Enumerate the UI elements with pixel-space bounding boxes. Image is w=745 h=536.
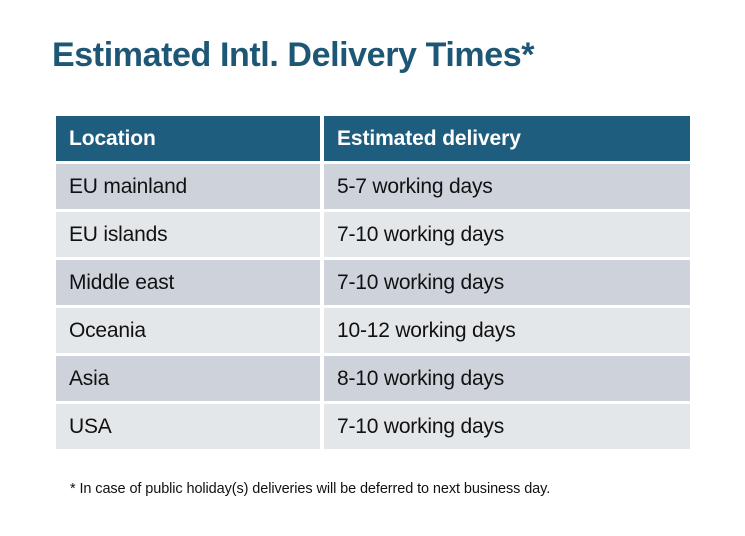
- cell-estimated-delivery: 7-10 working days: [324, 212, 690, 257]
- cell-estimated-delivery: 8-10 working days: [324, 356, 690, 401]
- cell-location: USA: [56, 404, 320, 449]
- table-body: EU mainland 5-7 working days EU islands …: [56, 164, 690, 449]
- cell-estimated-delivery: 7-10 working days: [324, 260, 690, 305]
- table-header: Location Estimated delivery: [56, 116, 690, 161]
- cell-location: EU islands: [56, 212, 320, 257]
- column-header-location: Location: [56, 116, 320, 161]
- table-row: EU islands 7-10 working days: [56, 212, 690, 257]
- cell-estimated-delivery: 7-10 working days: [324, 404, 690, 449]
- cell-location: Asia: [56, 356, 320, 401]
- column-header-estimated-delivery: Estimated delivery: [324, 116, 690, 161]
- cell-estimated-delivery: 10-12 working days: [324, 308, 690, 353]
- cell-location: Oceania: [56, 308, 320, 353]
- cell-location: Middle east: [56, 260, 320, 305]
- table-row: Oceania 10-12 working days: [56, 308, 690, 353]
- page-title: Estimated Intl. Delivery Times*: [52, 36, 534, 75]
- table-header-row: Location Estimated delivery: [56, 116, 690, 161]
- table-row: USA 7-10 working days: [56, 404, 690, 449]
- table-row: Asia 8-10 working days: [56, 356, 690, 401]
- footnote: * In case of public holiday(s) deliverie…: [70, 481, 550, 497]
- table-row: Middle east 7-10 working days: [56, 260, 690, 305]
- estimated-delivery-table: Location Estimated delivery EU mainland …: [52, 113, 694, 452]
- delivery-times-document: Estimated Intl. Delivery Times* Location…: [0, 0, 745, 536]
- cell-location: EU mainland: [56, 164, 320, 209]
- table-row: EU mainland 5-7 working days: [56, 164, 690, 209]
- cell-estimated-delivery: 5-7 working days: [324, 164, 690, 209]
